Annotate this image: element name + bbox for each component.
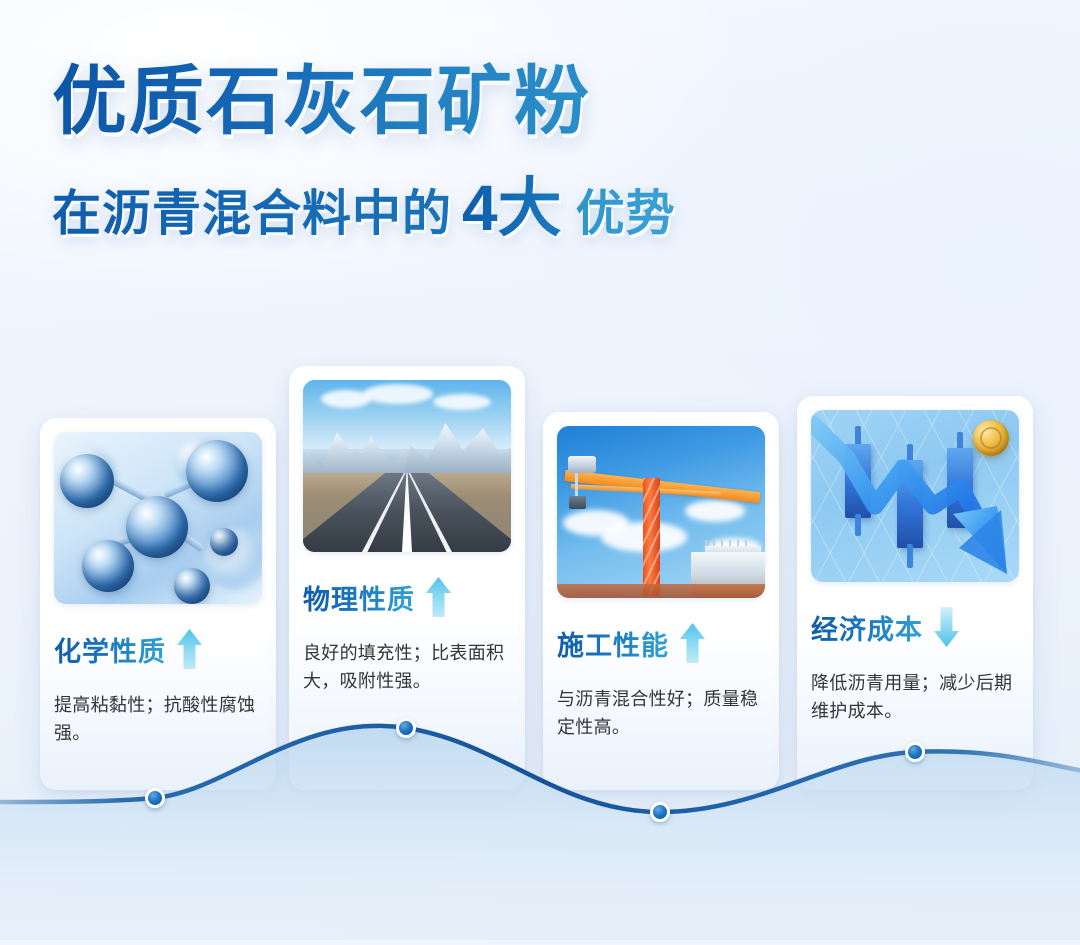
card-title: 施工性能 <box>557 624 669 663</box>
mountain-highway-image <box>303 380 511 552</box>
wave-dot <box>905 742 925 762</box>
card-title-row: 化学性质 <box>54 628 262 670</box>
card-title-row: 施工性能 <box>557 622 765 664</box>
arrow-down-icon <box>933 606 960 648</box>
card-description: 良好的填充性；比表面积大，吸附性强。 <box>303 640 511 696</box>
infographic-page: 优质石灰石矿粉 在沥青混合料中的 4大 优势 <box>0 0 1080 940</box>
card-title-row: 经济成本 <box>811 606 1019 648</box>
declining-chart-coin-image <box>811 410 1019 582</box>
tower-crane-image <box>557 426 765 598</box>
card-title: 化学性质 <box>54 630 166 669</box>
card-title: 物理性质 <box>303 578 415 617</box>
wave-dot <box>396 718 416 738</box>
wave-dot <box>145 788 165 808</box>
wave-dot <box>650 802 670 822</box>
arrow-up-icon <box>176 628 203 670</box>
card-description: 降低沥青用量；减少后期维护成本。 <box>811 670 1019 726</box>
arrow-up-icon <box>679 622 706 664</box>
decorative-wave-line <box>0 720 1080 940</box>
coin-icon <box>973 420 1009 456</box>
molecule-structure-image <box>54 432 262 604</box>
arrow-up-icon <box>425 576 452 618</box>
card-title: 经济成本 <box>811 608 923 647</box>
card-title-row: 物理性质 <box>303 576 511 618</box>
